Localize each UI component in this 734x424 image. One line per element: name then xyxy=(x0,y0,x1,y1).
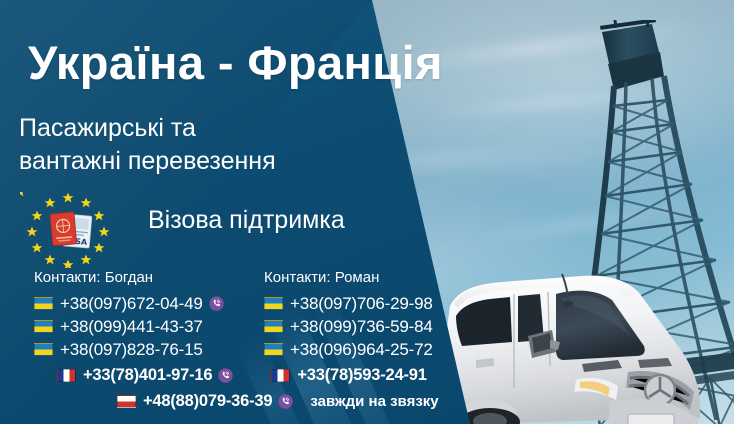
ua-flag-icon xyxy=(34,320,53,333)
phone-row[interactable]: +38(099)441-43-37 xyxy=(34,315,224,338)
phone-number[interactable]: +33(78)401-97-16 xyxy=(83,366,212,385)
pl-flag-icon xyxy=(117,395,136,408)
subtitle-line-2: вантажні перевезення xyxy=(19,145,276,178)
eu-stars-visa-icon: VISA xyxy=(20,192,116,268)
viber-icon xyxy=(278,394,293,409)
phone-row-france[interactable]: +33(78)401-97-16 +33(78)593-24-91 xyxy=(0,362,470,388)
phone-row[interactable]: +38(099)736-59-84 xyxy=(264,315,433,338)
ua-flag-icon xyxy=(34,297,53,310)
phone-row[interactable]: +38(097)828-76-15 xyxy=(34,338,224,361)
ua-flag-icon xyxy=(264,343,283,356)
contact-heading-left: Контакти: Богдан xyxy=(34,269,224,286)
ua-flag-icon xyxy=(34,343,53,356)
ua-flag-icon xyxy=(264,320,283,333)
travel-service-banner: Україна - Франція Пасажирські та вантажн… xyxy=(0,0,734,424)
phone-number[interactable]: +48(88)079-36-39 xyxy=(143,392,272,411)
contact-column-left: Контакти: Богдан +38(097)672-04-49 +38(0… xyxy=(34,269,224,361)
phone-row[interactable]: +38(097)706-29-98 xyxy=(264,292,433,315)
banner-content: Україна - Франція Пасажирські та вантажн… xyxy=(0,0,734,424)
phone-row[interactable]: +38(096)964-25-72 xyxy=(264,338,433,361)
phone-row[interactable]: +38(097)672-04-49 xyxy=(34,292,224,315)
always-available-label: завжди на звязку xyxy=(310,393,438,410)
viber-icon xyxy=(218,368,233,383)
international-phones: +33(78)401-97-16 +33(78)593-24-91 +48(88… xyxy=(0,362,470,414)
contact-column-right: Контакти: Роман +38(097)706-29-98 +38(09… xyxy=(264,269,433,361)
visa-support-row: VISA Візова підтримка xyxy=(20,192,380,268)
subtitle: Пасажирські та вантажні перевезення xyxy=(19,112,276,178)
phone-number[interactable]: +38(096)964-25-72 xyxy=(290,340,433,360)
ua-flag-icon xyxy=(264,297,283,310)
phone-number[interactable]: +38(097)706-29-98 xyxy=(290,294,433,314)
subtitle-line-1: Пасажирські та xyxy=(19,112,276,145)
page-title: Україна - Франція xyxy=(28,38,443,87)
fr-flag-icon xyxy=(271,369,290,382)
visa-support-label: Візова підтримка xyxy=(148,206,345,235)
phone-number[interactable]: +33(78)593-24-91 xyxy=(297,366,426,385)
phone-number[interactable]: +38(099)736-59-84 xyxy=(290,317,433,337)
contact-heading-right: Контакти: Роман xyxy=(264,269,433,286)
phone-number[interactable]: +38(097)828-76-15 xyxy=(60,340,203,360)
fr-flag-icon xyxy=(57,369,76,382)
phone-number[interactable]: +38(097)672-04-49 xyxy=(60,294,203,314)
viber-icon xyxy=(209,296,224,311)
phone-row-poland[interactable]: +48(88)079-36-39 завжди на звязку xyxy=(0,388,470,414)
phone-number[interactable]: +38(099)441-43-37 xyxy=(60,317,203,337)
